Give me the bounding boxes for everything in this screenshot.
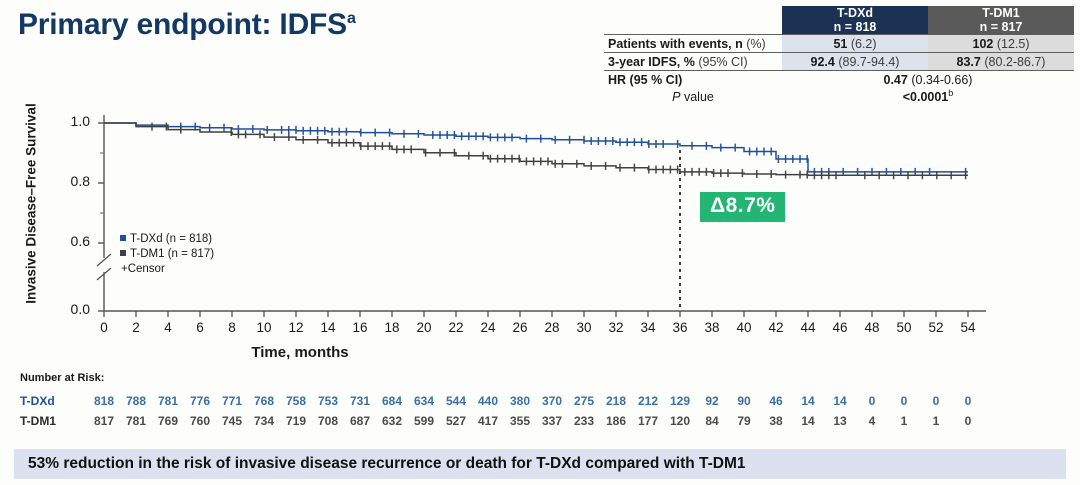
risk-value: 4 — [860, 414, 884, 428]
risk-value: 129 — [668, 394, 692, 408]
risk-row-label-t-dm1: T-DM1 — [20, 414, 56, 428]
risk-value: 753 — [316, 394, 340, 408]
risk-value: 177 — [636, 414, 660, 428]
x-tick-label: 52 — [925, 320, 947, 335]
risk-value: 0 — [924, 394, 948, 408]
risk-value: 781 — [156, 394, 180, 408]
risk-value: 233 — [572, 414, 596, 428]
x-axis-title-text: Time, months — [251, 344, 348, 361]
risk-value: 14 — [796, 394, 820, 408]
risk-value: 84 — [700, 414, 724, 428]
legend-label-censor: +Censor — [121, 263, 165, 275]
x-tick-label: 24 — [477, 320, 499, 335]
risk-value: 1 — [924, 414, 948, 428]
x-tick-label: 32 — [605, 320, 627, 335]
risk-value: 776 — [188, 394, 212, 408]
risk-value: 13 — [828, 414, 852, 428]
legend-item-t-dxd: T-DXd (n = 818) — [120, 232, 214, 247]
risk-row-label-t-dxd: T-DXd — [20, 394, 55, 408]
x-tick-label: 12 — [285, 320, 307, 335]
risk-value: 734 — [252, 414, 276, 428]
risk-value: 79 — [732, 414, 756, 428]
risk-value: 527 — [444, 414, 468, 428]
risk-value: 370 — [540, 394, 564, 408]
summary-banner: 53% reduction in the risk of invasive di… — [14, 449, 1066, 479]
plot-axes — [97, 115, 986, 317]
risk-value: 417 — [476, 414, 500, 428]
risk-value: 781 — [124, 414, 148, 428]
risk-value: 1 — [892, 414, 916, 428]
risk-value: 0 — [892, 394, 916, 408]
risk-value: 788 — [124, 394, 148, 408]
x-tick-label: 26 — [509, 320, 531, 335]
x-tick-label: 14 — [317, 320, 339, 335]
km-curve-t-dm1 — [104, 123, 968, 175]
risk-value: 760 — [188, 414, 212, 428]
x-tick-label: 42 — [765, 320, 787, 335]
risk-value: 0 — [956, 394, 980, 408]
risk-value: 120 — [668, 414, 692, 428]
risk-value: 719 — [284, 414, 308, 428]
x-tick-label: 2 — [125, 320, 147, 335]
risk-value: 771 — [220, 394, 244, 408]
x-tick-label: 54 — [957, 320, 979, 335]
risk-table-title: Number at Risk: — [20, 372, 104, 384]
legend-item-t-dm1: T-DM1 (n = 817) — [120, 247, 214, 262]
x-tick-label: 40 — [733, 320, 755, 335]
x-tick-label: 22 — [445, 320, 467, 335]
risk-value: 275 — [572, 394, 596, 408]
risk-value: 440 — [476, 394, 500, 408]
x-tick-label: 4 — [157, 320, 179, 335]
risk-value: 186 — [604, 414, 628, 428]
risk-value: 90 — [732, 394, 756, 408]
x-tick-label: 0 — [93, 320, 115, 335]
x-tick-label: 6 — [189, 320, 211, 335]
x-tick-label: 10 — [253, 320, 275, 335]
risk-value: 817 — [92, 414, 116, 428]
risk-value: 92 — [700, 394, 724, 408]
risk-value: 684 — [380, 394, 404, 408]
risk-value: 708 — [316, 414, 340, 428]
risk-value: 544 — [444, 394, 468, 408]
risk-value: 758 — [284, 394, 308, 408]
km-curve-t-dxd — [104, 123, 968, 172]
legend-label-t-dm1: T-DM1 (n = 817) — [130, 248, 214, 260]
x-tick-label: 28 — [541, 320, 563, 335]
summary-banner-text: 53% reduction in the risk of invasive di… — [28, 455, 746, 473]
risk-value: 218 — [604, 394, 628, 408]
risk-value: 212 — [636, 394, 660, 408]
kaplan-meier-plot — [0, 0, 1080, 340]
x-tick-label: 30 — [573, 320, 595, 335]
x-tick-label: 36 — [669, 320, 691, 335]
y-tick-label: 1.0 — [56, 113, 90, 129]
legend-item-censor: +Censor — [120, 262, 214, 277]
y-tick-label: 0.0 — [56, 301, 90, 317]
risk-value: 46 — [764, 394, 788, 408]
risk-value: 0 — [956, 414, 980, 428]
x-tick-label: 50 — [893, 320, 915, 335]
risk-value: 0 — [860, 394, 884, 408]
x-tick-label: 16 — [349, 320, 371, 335]
x-tick-label: 38 — [701, 320, 723, 335]
legend-swatch-t-dm1 — [120, 250, 126, 256]
y-tick-label: 0.6 — [56, 233, 90, 249]
risk-value: 768 — [252, 394, 276, 408]
risk-value: 769 — [156, 414, 180, 428]
risk-value: 38 — [764, 414, 788, 428]
chart-legend: T-DXd (n = 818) T-DM1 (n = 817) +Censor — [120, 232, 214, 277]
risk-value: 337 — [540, 414, 564, 428]
legend-label-t-dxd: T-DXd (n = 818) — [130, 233, 212, 245]
legend-swatch-t-dxd — [120, 235, 126, 241]
risk-value: 745 — [220, 414, 244, 428]
risk-value: 818 — [92, 394, 116, 408]
risk-value: 687 — [348, 414, 372, 428]
delta-annotation-badge: Δ8.7% — [700, 192, 785, 222]
x-tick-label: 46 — [829, 320, 851, 335]
risk-value: 634 — [412, 394, 436, 408]
x-tick-label: 44 — [797, 320, 819, 335]
risk-value: 380 — [508, 394, 532, 408]
x-tick-label: 20 — [413, 320, 435, 335]
x-tick-label: 18 — [381, 320, 403, 335]
x-tick-label: 34 — [637, 320, 659, 335]
risk-value: 599 — [412, 414, 436, 428]
delta-annotation-label: Δ8.7% — [710, 194, 775, 217]
risk-value: 14 — [828, 394, 852, 408]
x-tick-label: 48 — [861, 320, 883, 335]
risk-value: 731 — [348, 394, 372, 408]
x-axis-title: Time, months — [0, 344, 600, 361]
x-tick-label: 8 — [221, 320, 243, 335]
plot-curves — [104, 123, 968, 180]
risk-value: 632 — [380, 414, 404, 428]
risk-value: 355 — [508, 414, 532, 428]
y-tick-label: 0.8 — [56, 173, 90, 189]
risk-value: 14 — [796, 414, 820, 428]
